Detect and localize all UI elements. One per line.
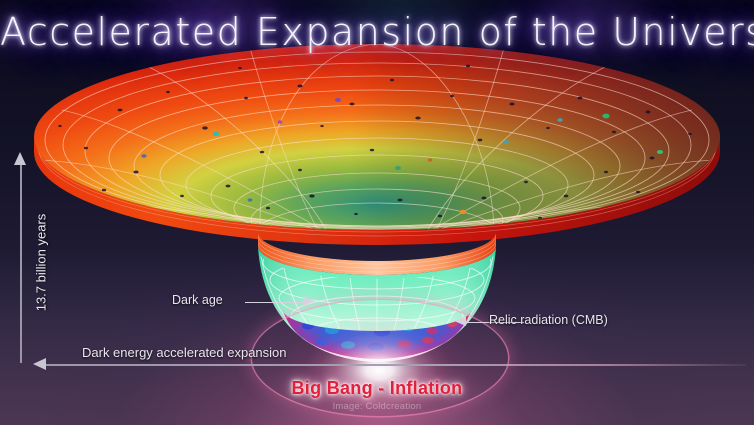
funnel-inner-surface bbox=[34, 44, 720, 261]
horizontal-axis-label: Dark energy accelerated expansion bbox=[82, 345, 287, 360]
dark-age-label: Dark age bbox=[172, 293, 223, 307]
right-arrow-icon bbox=[303, 296, 315, 306]
big-bang-caption: Big Bang - Inflation bbox=[0, 378, 754, 399]
vertical-axis-line bbox=[20, 163, 22, 363]
page-title: Accelerated Expansion of the Universe bbox=[0, 10, 754, 54]
horizontal-axis-line bbox=[46, 364, 746, 366]
relic-radiation-label: Relic radiation (CMB) bbox=[489, 313, 608, 327]
image-credit: Image: Coldcreation bbox=[0, 401, 754, 412]
universe-expansion-figure: Accelerated Expansion of the Universe bbox=[0, 0, 754, 425]
up-arrow-icon bbox=[14, 152, 26, 165]
expansion-funnel-graphic bbox=[0, 0, 754, 425]
dark-age-leader-line bbox=[245, 302, 307, 304]
vertical-axis-label: 13.7 billion years bbox=[34, 203, 49, 323]
left-arrow-icon bbox=[454, 316, 466, 326]
left-arrow-icon bbox=[33, 358, 46, 370]
